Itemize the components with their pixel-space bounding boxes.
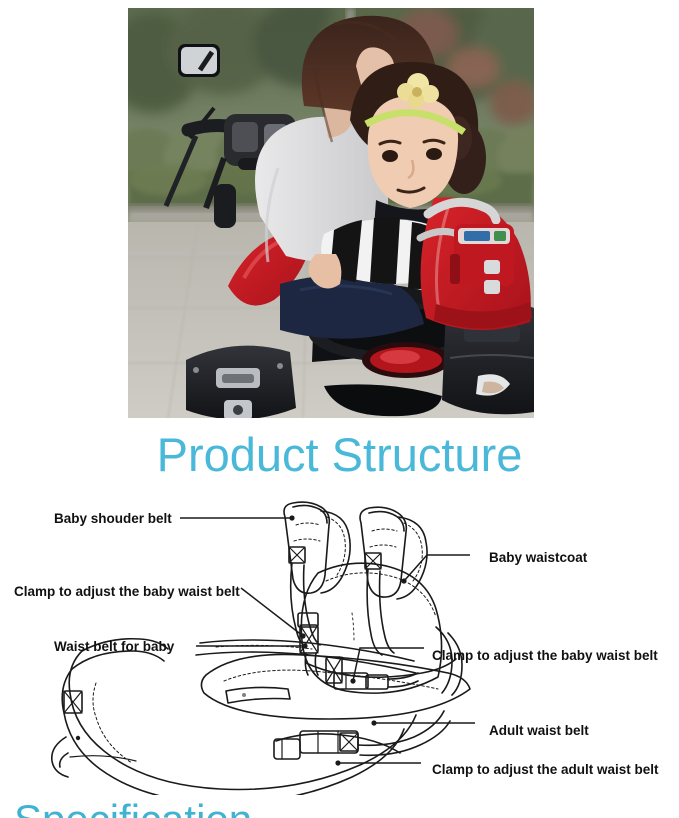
label-waist-belt-for-baby: Waist belt for baby bbox=[54, 639, 174, 654]
specification-heading-text: Specification bbox=[14, 797, 252, 818]
label-adult-waist-belt: Adult waist belt bbox=[489, 723, 589, 738]
product-lifestyle-photo bbox=[128, 8, 534, 418]
label-baby-waistcoat: Baby waistcoat bbox=[489, 550, 587, 565]
page-title: Product Structure bbox=[0, 425, 679, 485]
product-detail-page: Product Structure bbox=[0, 0, 679, 818]
label-baby-shoulder-belt: Baby shouder belt bbox=[54, 511, 172, 526]
specification-heading-cropped: Specification bbox=[0, 797, 679, 818]
label-clamp-baby-waist-belt-left: Clamp to adjust the baby waist belt bbox=[14, 584, 240, 599]
label-clamp-adult-waist-belt: Clamp to adjust the adult waist belt bbox=[432, 762, 659, 777]
label-clamp-baby-waist-belt-right: Clamp to adjust the baby waist belt bbox=[432, 648, 658, 663]
photo-illustration bbox=[128, 8, 534, 418]
